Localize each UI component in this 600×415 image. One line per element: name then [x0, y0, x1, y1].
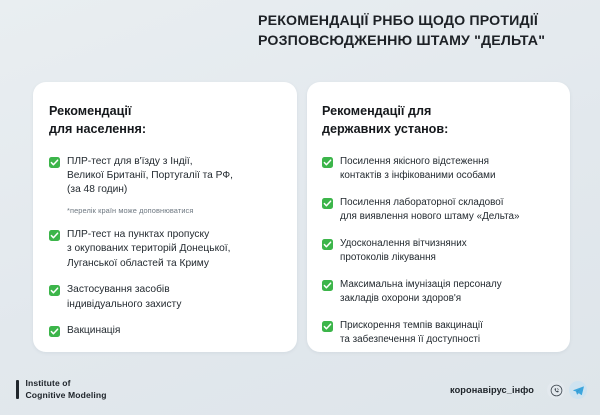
text-line: Прискорення темпів вакцинації — [340, 319, 483, 333]
list-item: ПЛР-тест для в'їзду з Індії, Великої Бри… — [49, 155, 283, 198]
infographic-page: РЕКОМЕНДАЦІЇ РНБО ЩОДО ПРОТИДІЇ РОЗПОВСЮ… — [0, 0, 600, 415]
check-icon — [49, 326, 60, 337]
recommendation-cards: Рекомендації для населення: ПЛР-тест для… — [33, 82, 570, 352]
list-item-text: Прискорення темпів вакцинації та забезпе… — [340, 319, 483, 347]
card-population: Рекомендації для населення: ПЛР-тест для… — [33, 82, 297, 352]
text-line: індивідуального захисту — [67, 298, 181, 312]
list-item: Застосування засобів індивідуального зах… — [49, 283, 283, 312]
channel-handle: коронавірус_інфо — [450, 385, 534, 395]
list-item: Посилення якісного відстеження контактів… — [322, 155, 558, 183]
card-state-institutions-heading: Рекомендації для державних установ: — [322, 102, 558, 139]
list-item: Прискорення темпів вакцинації та забезпе… — [322, 319, 558, 347]
text-line: Посилення якісного відстеження — [340, 155, 495, 169]
page-title: РЕКОМЕНДАЦІЇ РНБО ЩОДО ПРОТИДІЇ РОЗПОВСЮ… — [258, 12, 588, 51]
text-line: ПЛР-тест для в'їзду з Індії, — [67, 155, 233, 169]
text-line: Луганської областей та Криму — [67, 257, 230, 271]
check-icon — [322, 198, 333, 209]
card-population-items: ПЛР-тест для в'їзду з Індії, Великої Бри… — [49, 155, 283, 339]
text-line: контактів з інфікованими особами — [340, 169, 495, 183]
check-icon — [322, 239, 333, 250]
list-item-text: Застосування засобів індивідуального зах… — [67, 283, 181, 312]
list-item-text: Удосконалення вітчизняних протоколів лік… — [340, 237, 467, 265]
heading-line-2: державних установ: — [322, 120, 558, 138]
logo-text: Institute of Cognitive Modeling — [26, 378, 107, 401]
page-title-line-1: РЕКОМЕНДАЦІЇ РНБО ЩОДО ПРОТИДІЇ — [258, 12, 588, 32]
heading-line-1: Рекомендації — [49, 102, 283, 120]
text-line: Посилення лабораторної складової — [340, 196, 519, 210]
text-line: з окупованих територій Донецької, — [67, 242, 230, 256]
list-item-text: Вакцинація — [67, 324, 120, 338]
list-item-text: Максимальна імунізація персоналу закладі… — [340, 278, 502, 306]
list-item-text: ПЛР-тест на пунктах пропуску з окуповани… — [67, 228, 230, 271]
heading-line-1: Рекомендації для — [322, 102, 558, 120]
text-line: та забезпечення її доступності — [340, 333, 483, 347]
text-line: для виявлення нового штаму «Дельта» — [340, 210, 519, 224]
card-state-institutions-items: Посилення якісного відстеження контактів… — [322, 155, 558, 348]
list-item-text: ПЛР-тест для в'їзду з Індії, Великої Бри… — [67, 155, 233, 198]
list-item: Максимальна імунізація персоналу закладі… — [322, 278, 558, 306]
list-item: Посилення лабораторної складової для вия… — [322, 196, 558, 224]
text-line: Застосування засобів — [67, 283, 181, 297]
list-item-text: Посилення лабораторної складової для вия… — [340, 196, 519, 224]
list-item-text: Посилення якісного відстеження контактів… — [340, 155, 495, 183]
check-icon — [49, 157, 60, 168]
list-item: Удосконалення вітчизняних протоколів лік… — [322, 237, 558, 265]
logo-line-2: Cognitive Modeling — [26, 390, 107, 401]
check-icon — [49, 285, 60, 296]
text-line: Великої Британії, Португалії та РФ, — [67, 169, 233, 183]
check-icon — [49, 230, 60, 241]
footer-social: коронавірус_інфо — [450, 381, 587, 399]
viber-icon[interactable] — [547, 381, 565, 399]
check-icon — [322, 280, 333, 291]
footnote: *перелік країн може доповнюватися — [67, 206, 283, 215]
page-title-line-2: РОЗПОВСЮДЖЕННЮ ШТАМУ "ДЕЛЬТА" — [258, 32, 588, 52]
logo-line-1: Institute of — [26, 378, 107, 389]
text-line: закладів охорони здоров'я — [340, 292, 502, 306]
list-item: Вакцинація — [49, 324, 283, 338]
logo-accent-bar — [16, 380, 19, 399]
text-line: Вакцинація — [67, 324, 120, 338]
text-line: (за 48 годин) — [67, 183, 233, 197]
text-line: Максимальна імунізація персоналу — [340, 278, 502, 292]
telegram-icon[interactable] — [569, 381, 587, 399]
card-state-institutions: Рекомендації для державних установ: Поси… — [307, 82, 570, 352]
card-population-heading: Рекомендації для населення: — [49, 102, 283, 139]
check-icon — [322, 321, 333, 332]
footer-logo: Institute of Cognitive Modeling — [16, 378, 107, 401]
text-line: протоколів лікування — [340, 251, 467, 265]
heading-line-2: для населення: — [49, 120, 283, 138]
check-icon — [322, 157, 333, 168]
list-item: ПЛР-тест на пунктах пропуску з окуповани… — [49, 228, 283, 271]
text-line: Удосконалення вітчизняних — [340, 237, 467, 251]
text-line: ПЛР-тест на пунктах пропуску — [67, 228, 230, 242]
